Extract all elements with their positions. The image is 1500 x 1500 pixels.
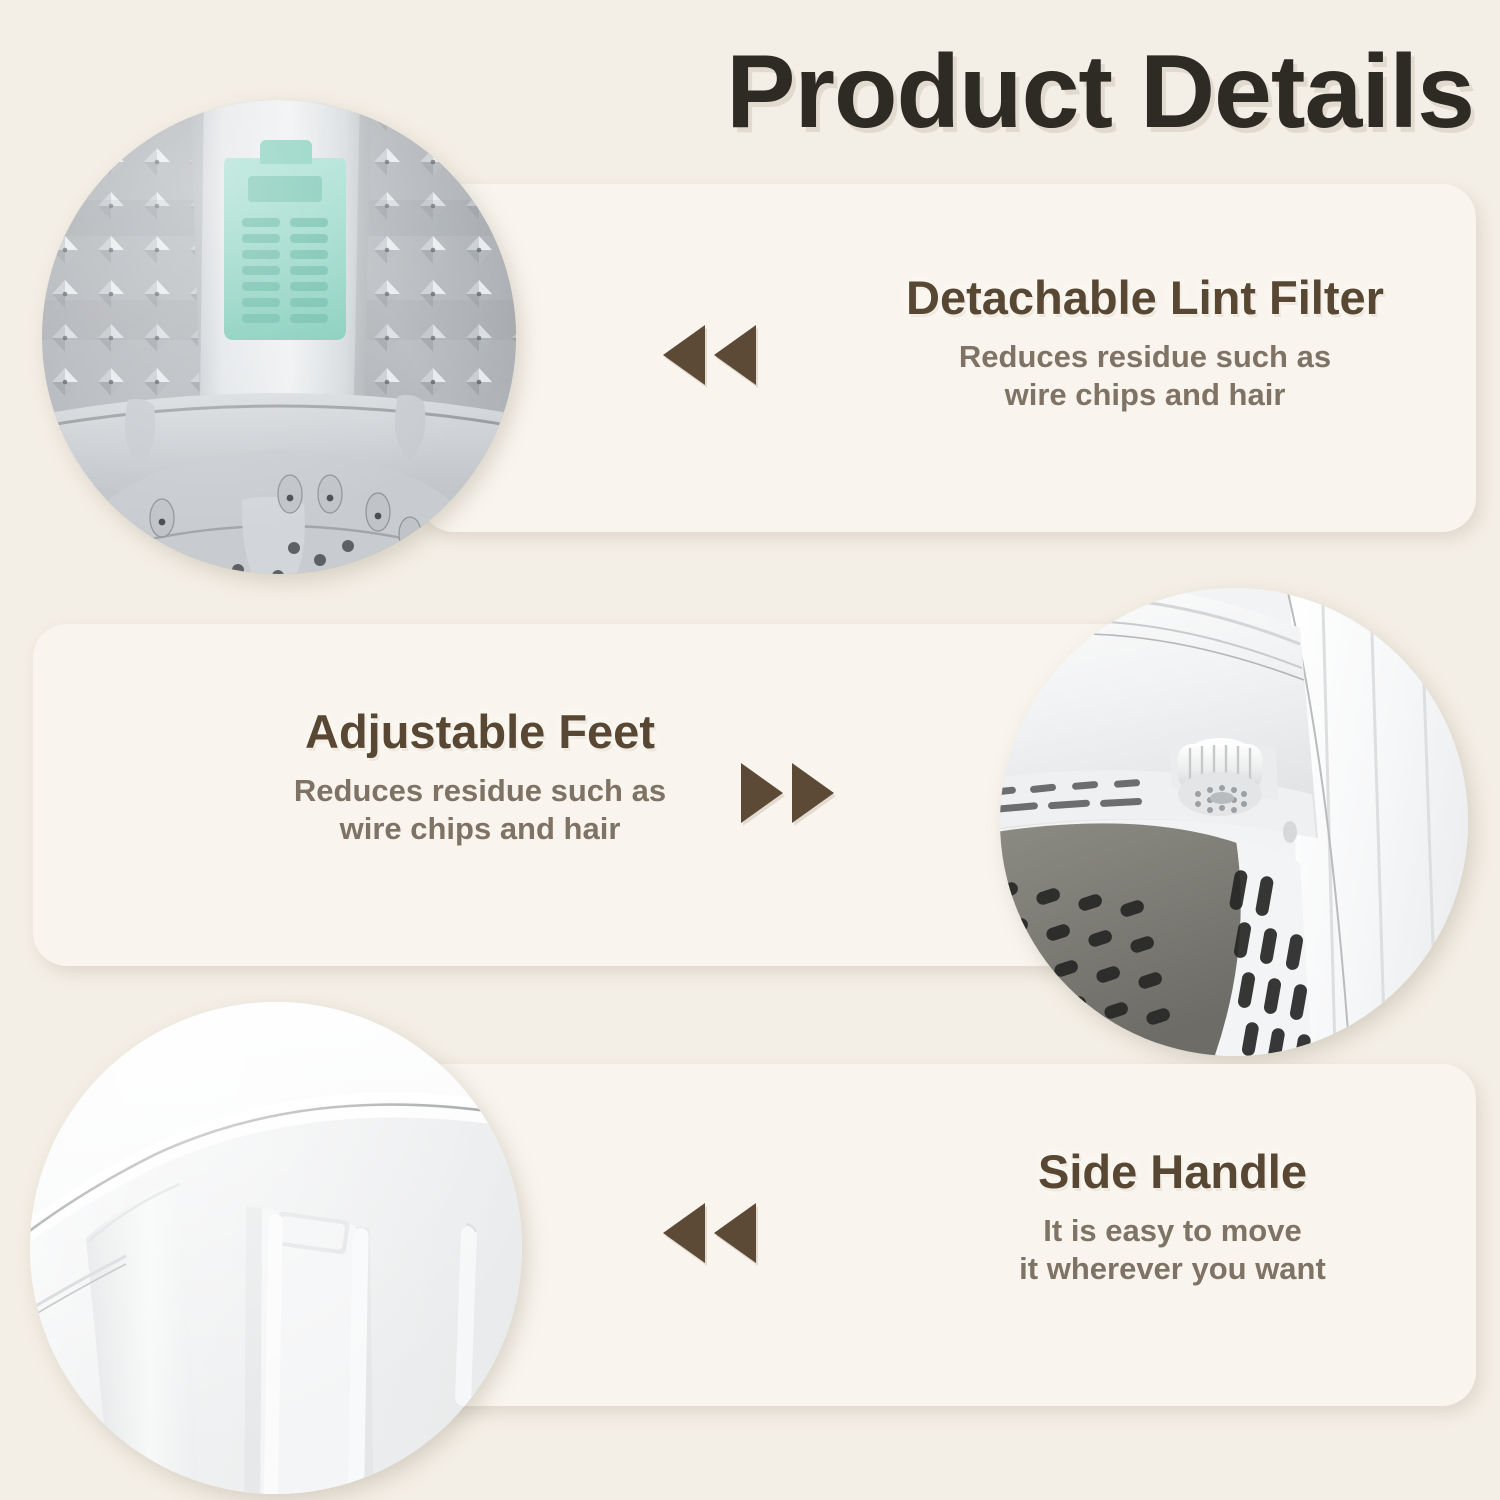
feature-subtitle-line: Reduces residue such as <box>959 339 1331 374</box>
washer-adjustable-foot-photo <box>1000 588 1468 1056</box>
triangle-left-icon <box>663 325 705 385</box>
feature-subtitle-line: wire chips and hair <box>340 811 621 846</box>
triangle-left-icon <box>714 1203 756 1263</box>
feature-text-detachable-lint-filter: Detachable Lint Filter Reduces residue s… <box>830 272 1460 413</box>
feature-text-side-handle: Side Handle It is easy to move it wherev… <box>945 1146 1400 1287</box>
arrow-pair-left-lint-filter <box>663 325 756 385</box>
feature-subtitle-line: it wherever you want <box>1019 1251 1326 1286</box>
triangle-left-icon <box>663 1203 705 1263</box>
feature-subtitle-line: Reduces residue such as <box>294 773 666 808</box>
feature-subtitle: It is easy to move it wherever you want <box>945 1212 1400 1288</box>
page-title: Product Details <box>726 38 1474 147</box>
feature-subtitle: Reduces residue such as wire chips and h… <box>830 338 1460 414</box>
washer-drum-with-lint-filter-photo <box>42 100 516 574</box>
feature-title: Adjustable Feet <box>160 706 800 758</box>
feature-subtitle-line: It is easy to move <box>1043 1213 1301 1248</box>
feature-subtitle: Reduces residue such as wire chips and h… <box>160 772 800 848</box>
feature-title: Side Handle <box>945 1146 1400 1198</box>
feature-text-adjustable-feet: Adjustable Feet Reduces residue such as … <box>160 706 800 847</box>
triangle-left-icon <box>714 325 756 385</box>
product-details-page: Product Details <box>0 0 1500 1500</box>
washer-side-handle-photo <box>30 1002 522 1494</box>
arrow-pair-left-side-handle <box>663 1203 756 1263</box>
feature-title: Detachable Lint Filter <box>830 272 1460 324</box>
feature-subtitle-line: wire chips and hair <box>1005 377 1286 412</box>
